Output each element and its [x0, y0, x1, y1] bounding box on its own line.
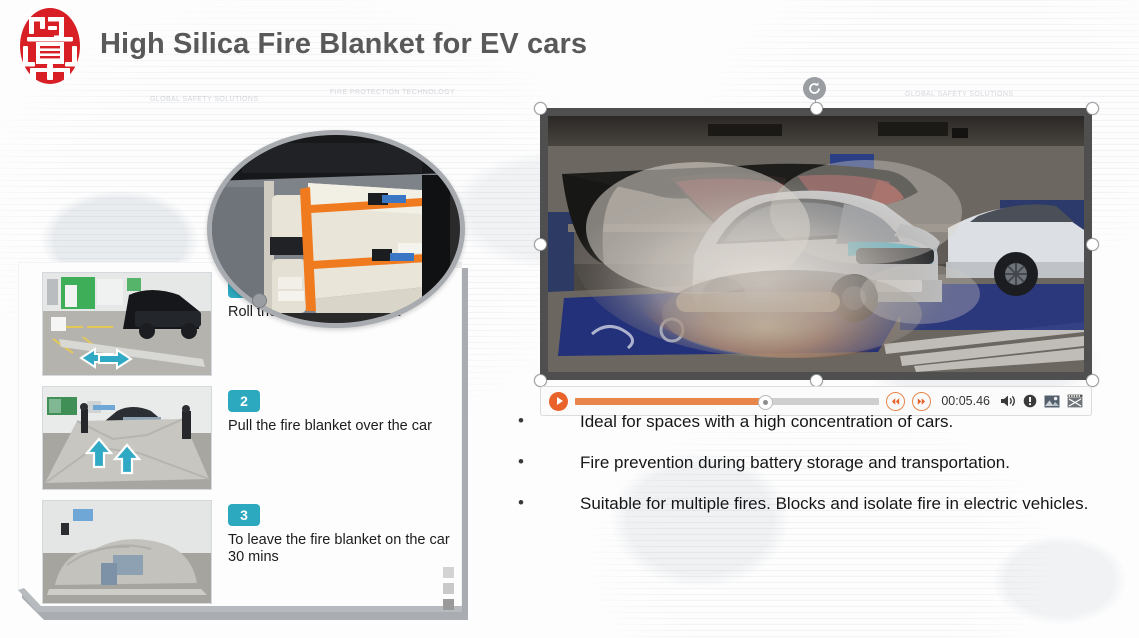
- video-frame[interactable]: [540, 108, 1092, 380]
- progress-fill: [575, 398, 764, 405]
- bullet-item: • Fire prevention during battery storage…: [512, 451, 1112, 475]
- presentation-slide: GLOBAL SAFETY SOLUTIONS FIRE PROTECTION …: [0, 0, 1139, 638]
- step-badge-2: 2: [228, 390, 260, 412]
- feature-bullet-list: • Ideal for spaces with a high concentra…: [512, 410, 1112, 533]
- progress-knob[interactable]: [758, 395, 773, 410]
- step-photo-1: [42, 272, 212, 376]
- page-title: High Silica Fire Blanket for EV cars: [100, 28, 587, 61]
- bullet-item: • Ideal for spaces with a high concentra…: [512, 410, 1112, 434]
- selection-handle-middle-right[interactable]: [1086, 238, 1099, 251]
- bullet-marker: •: [512, 451, 580, 475]
- step-label-2: Pull the fire blanket over the car: [228, 418, 454, 435]
- step-photo-2: [42, 386, 212, 490]
- step-text-2: 2 Pull the fire blanket over the car: [228, 390, 454, 435]
- watermark-text: GLOBAL SAFETY SOLUTIONS: [150, 95, 258, 104]
- panel-pagination-dots[interactable]: [443, 567, 454, 610]
- selection-handle-top-right[interactable]: [1086, 102, 1099, 115]
- poster-frame-icon[interactable]: [1044, 395, 1060, 408]
- slide-header: High Silica Fire Blanket for EV cars: [0, 0, 1139, 92]
- video-progress-slider[interactable]: [575, 398, 879, 405]
- oval-image-adjust-handle[interactable]: [252, 293, 267, 308]
- step-badge-3: 3: [228, 504, 260, 526]
- steps-panel: 1 Roll the car fire blanket out: [18, 262, 468, 620]
- selection-handle-top-left[interactable]: [534, 102, 547, 115]
- step-row: 2 Pull the fire blanket over the car: [42, 382, 454, 492]
- selection-handle-middle-left[interactable]: [534, 238, 547, 251]
- video-object[interactable]: [540, 108, 1092, 380]
- step-label-3: To leave the fire blanket on the car 30 …: [228, 532, 454, 566]
- oval-product-photo: [207, 130, 465, 328]
- rotation-handle[interactable]: [803, 77, 826, 100]
- pagination-dot[interactable]: [443, 583, 454, 594]
- bullet-text: Fire prevention during battery storage a…: [580, 451, 1010, 475]
- video-time-display: 00:05.46: [938, 394, 993, 408]
- rewind-icon[interactable]: [886, 392, 905, 411]
- bullet-marker: •: [512, 410, 580, 434]
- bullet-text: Ideal for spaces with a high concentrati…: [580, 410, 953, 434]
- company-seal-logo: [14, 6, 86, 86]
- fast-forward-icon[interactable]: [912, 392, 931, 411]
- step-text-3: 3 To leave the fire blanket on the car 3…: [228, 504, 454, 566]
- step-row: 3 To leave the fire blanket on the car 3…: [42, 496, 454, 606]
- pagination-dot[interactable]: [443, 567, 454, 578]
- pagination-dot[interactable]: [443, 599, 454, 610]
- trim-video-icon[interactable]: [1067, 394, 1083, 408]
- volume-icon[interactable]: [1000, 394, 1016, 408]
- bullet-marker: •: [512, 492, 580, 516]
- info-icon[interactable]: [1023, 394, 1037, 408]
- bullet-item: • Suitable for multiple fires. Blocks an…: [512, 492, 1112, 516]
- play-icon[interactable]: [549, 392, 568, 411]
- bullet-text: Suitable for multiple fires. Blocks and …: [580, 492, 1088, 516]
- selection-handle-top-center[interactable]: [810, 102, 823, 115]
- step-photo-3: [42, 500, 212, 604]
